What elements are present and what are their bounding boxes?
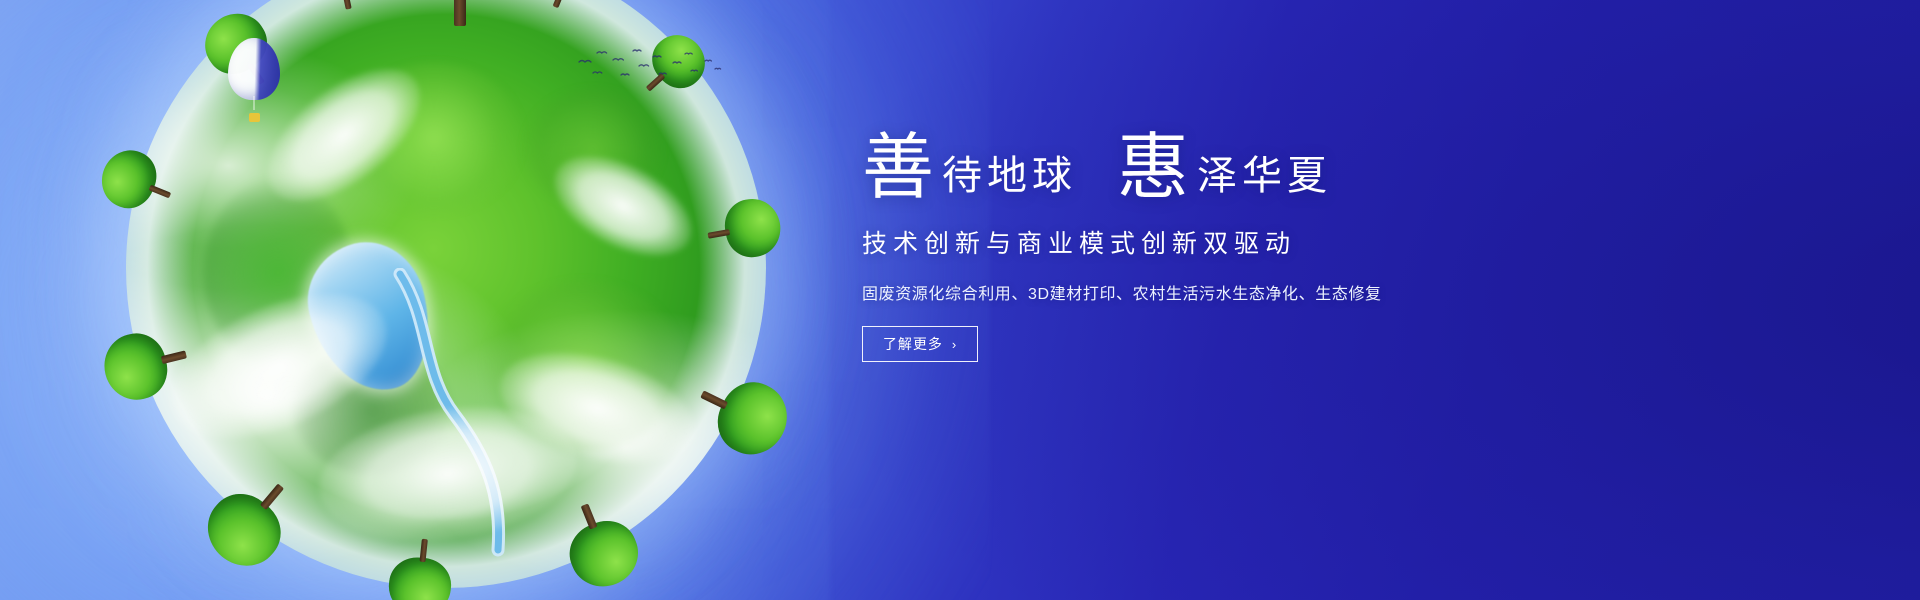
balloon-basket [249,113,260,122]
hero-content: 善 待地球 惠 泽华夏 技术创新与商业模式创新双驱动 固废资源化综合利用、3D建… [862,128,1622,362]
headline-secondary-1: 待地球 [942,156,1077,196]
balloon-rope [254,96,255,110]
tree [402,0,518,24]
learn-more-label: 了解更多 [883,334,943,354]
balloon-envelope [228,38,280,100]
hero-subtitle: 技术创新与商业模式创新双驱动 [862,224,1622,260]
headline-primary-char-1: 善 [862,132,934,204]
hot-air-balloon [228,38,280,122]
chevron-right-icon: › [952,338,957,351]
headline-primary-char-2: 惠 [1117,132,1189,204]
hero-description: 固废资源化综合利用、3D建材打印、农村生活污水生态净化、生态修复 [862,280,1622,304]
tree [386,535,456,600]
page-title: 善 待地球 惠 泽华夏 [862,128,1622,200]
bird-flock [575,42,725,90]
learn-more-button[interactable]: 了解更多 › [862,326,978,362]
headline-secondary-2: 泽华夏 [1197,156,1332,196]
hero-banner: 善 待地球 惠 泽华夏 技术创新与商业模式创新双驱动 固废资源化综合利用、3D建… [0,0,1920,600]
